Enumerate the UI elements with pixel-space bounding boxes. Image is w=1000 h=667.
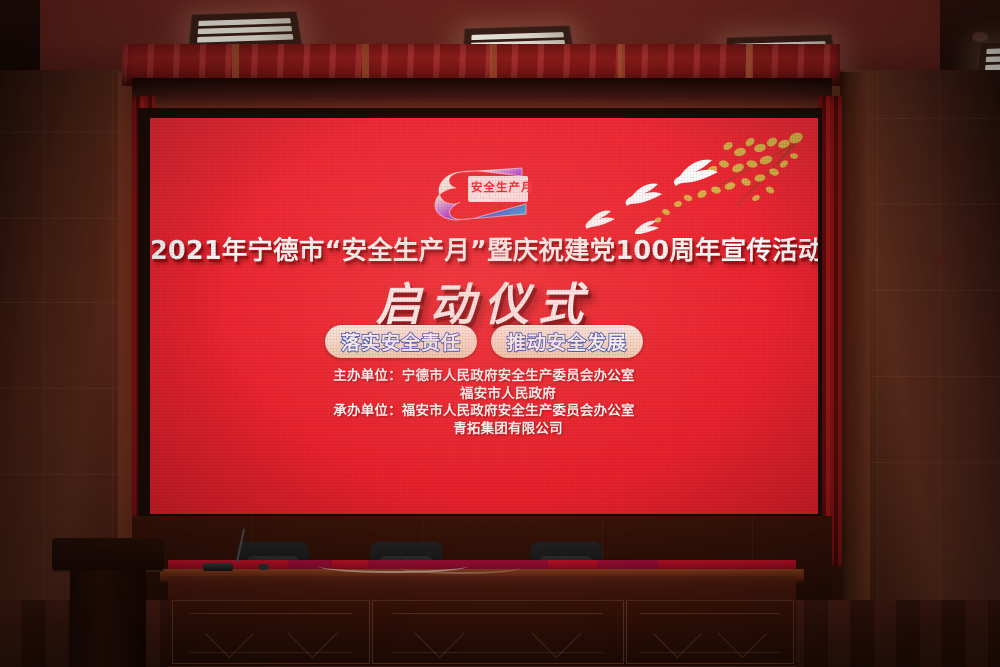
work-safety-month-logo: 安全生产月 WORK SAFETY MONTH — [430, 164, 538, 224]
slogan-text-2: 推动安全发展 — [507, 328, 627, 355]
table-panel-3 — [626, 600, 794, 664]
table-panel-2 — [372, 600, 624, 664]
table-panel-1 — [172, 600, 370, 664]
speaker-podium — [52, 538, 164, 667]
slogan-text-1: 落实安全责任 — [341, 328, 461, 355]
organizer-block: 主办单位：宁德市人民政府安全生产委员会办公室 福安市人民政府 承办单位：福安市人… — [150, 368, 818, 438]
microphone-secondary — [258, 564, 269, 570]
right-pilaster — [840, 72, 870, 667]
event-headline: 2021年宁德市“安全生产月”暨庆祝建党100周年宣传活动 — [150, 230, 818, 267]
organizer-line-3: 承办单位：福安市人民政府安全生产委员会办公室 — [150, 403, 818, 421]
led-screen[interactable]: 安全生产月 WORK SAFETY MONTH 2021年宁德市“安全生产月”暨… — [150, 118, 818, 514]
organizer-line-1: 主办单位：宁德市人民政府安全生产委员会办公室 — [150, 368, 818, 386]
slogan-row: 落实安全责任 推动安全发展 — [150, 325, 818, 358]
slogan-pill-2: 推动安全发展 — [491, 325, 643, 358]
ceremony-title: 启动仪式 — [150, 268, 818, 333]
smoke-detector-icon — [972, 32, 988, 42]
organizer-line-2: 福安市人民政府 — [150, 386, 818, 404]
microphone-base — [203, 563, 233, 571]
logo-container: 安全生产月 WORK SAFETY MONTH — [150, 164, 818, 224]
logo-text-english: WORK SAFETY MONTH — [471, 193, 538, 203]
slogan-pill-1: 落实安全责任 — [325, 325, 477, 358]
organizer-line-4: 青拓集团有限公司 — [150, 421, 818, 439]
conference-hall-scene: 安全生产月 WORK SAFETY MONTH 2021年宁德市“安全生产月”暨… — [0, 0, 1000, 667]
wall-mark — [934, 255, 943, 263]
